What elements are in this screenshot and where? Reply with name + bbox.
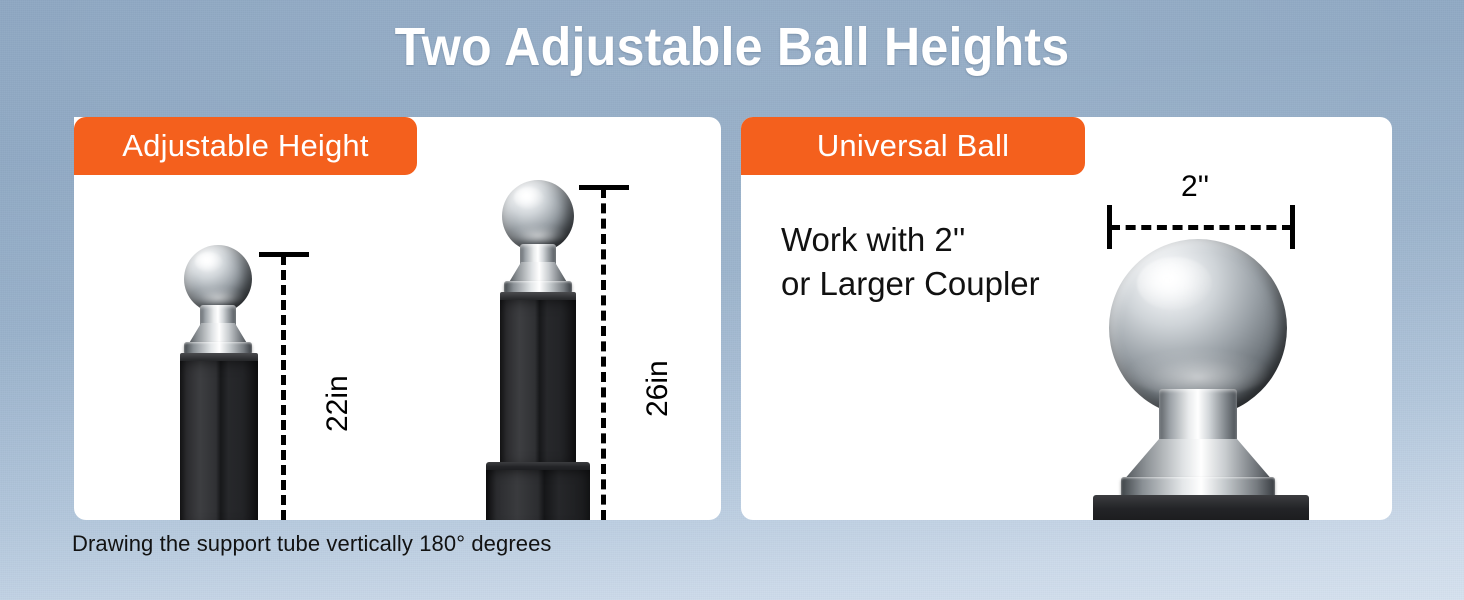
universal-ball-line-1: Work with 2'' (781, 218, 1040, 262)
dimension-26in-line (601, 188, 606, 520)
hitch-ball-closeup (1101, 239, 1351, 520)
support-tube-caption: Drawing the support tube vertically 180°… (72, 531, 552, 557)
support-tube-body (180, 361, 258, 520)
dimension-22in-line (281, 255, 286, 520)
dimension-2in-line (1110, 225, 1292, 230)
hitch-ball-sphere (502, 180, 574, 252)
badge-adjustable-height: Adjustable Height (74, 117, 417, 175)
hitch-ball-low-position (162, 245, 292, 520)
adjustable-height-card: 22in 26in (74, 117, 721, 520)
universal-ball-card: 2'' (741, 117, 1392, 520)
infographic-stage: Two Adjustable Ball Heights 22in (0, 0, 1464, 600)
page-title: Two Adjustable Ball Heights (51, 16, 1413, 78)
universal-ball-description: Work with 2'' or Larger Coupler (781, 218, 1040, 306)
badge-universal-ball-label: Universal Ball (817, 128, 1009, 164)
hitch-ball-high-position (480, 180, 620, 520)
dimension-2in-label: 2'' (1181, 170, 1209, 204)
hitch-ball-sphere (184, 245, 252, 313)
hitch-ball-shoulder (1123, 439, 1273, 481)
dimension-22in-label: 22in (321, 375, 355, 432)
outer-tube-body (486, 470, 590, 520)
universal-ball-line-2: or Larger Coupler (781, 262, 1040, 306)
badge-universal-ball: Universal Ball (741, 117, 1085, 175)
mount-plate (1093, 495, 1309, 520)
dimension-26in-label: 26in (641, 360, 675, 417)
badge-adjustable-height-label: Adjustable Height (122, 128, 368, 164)
inner-tube-body (500, 300, 576, 468)
